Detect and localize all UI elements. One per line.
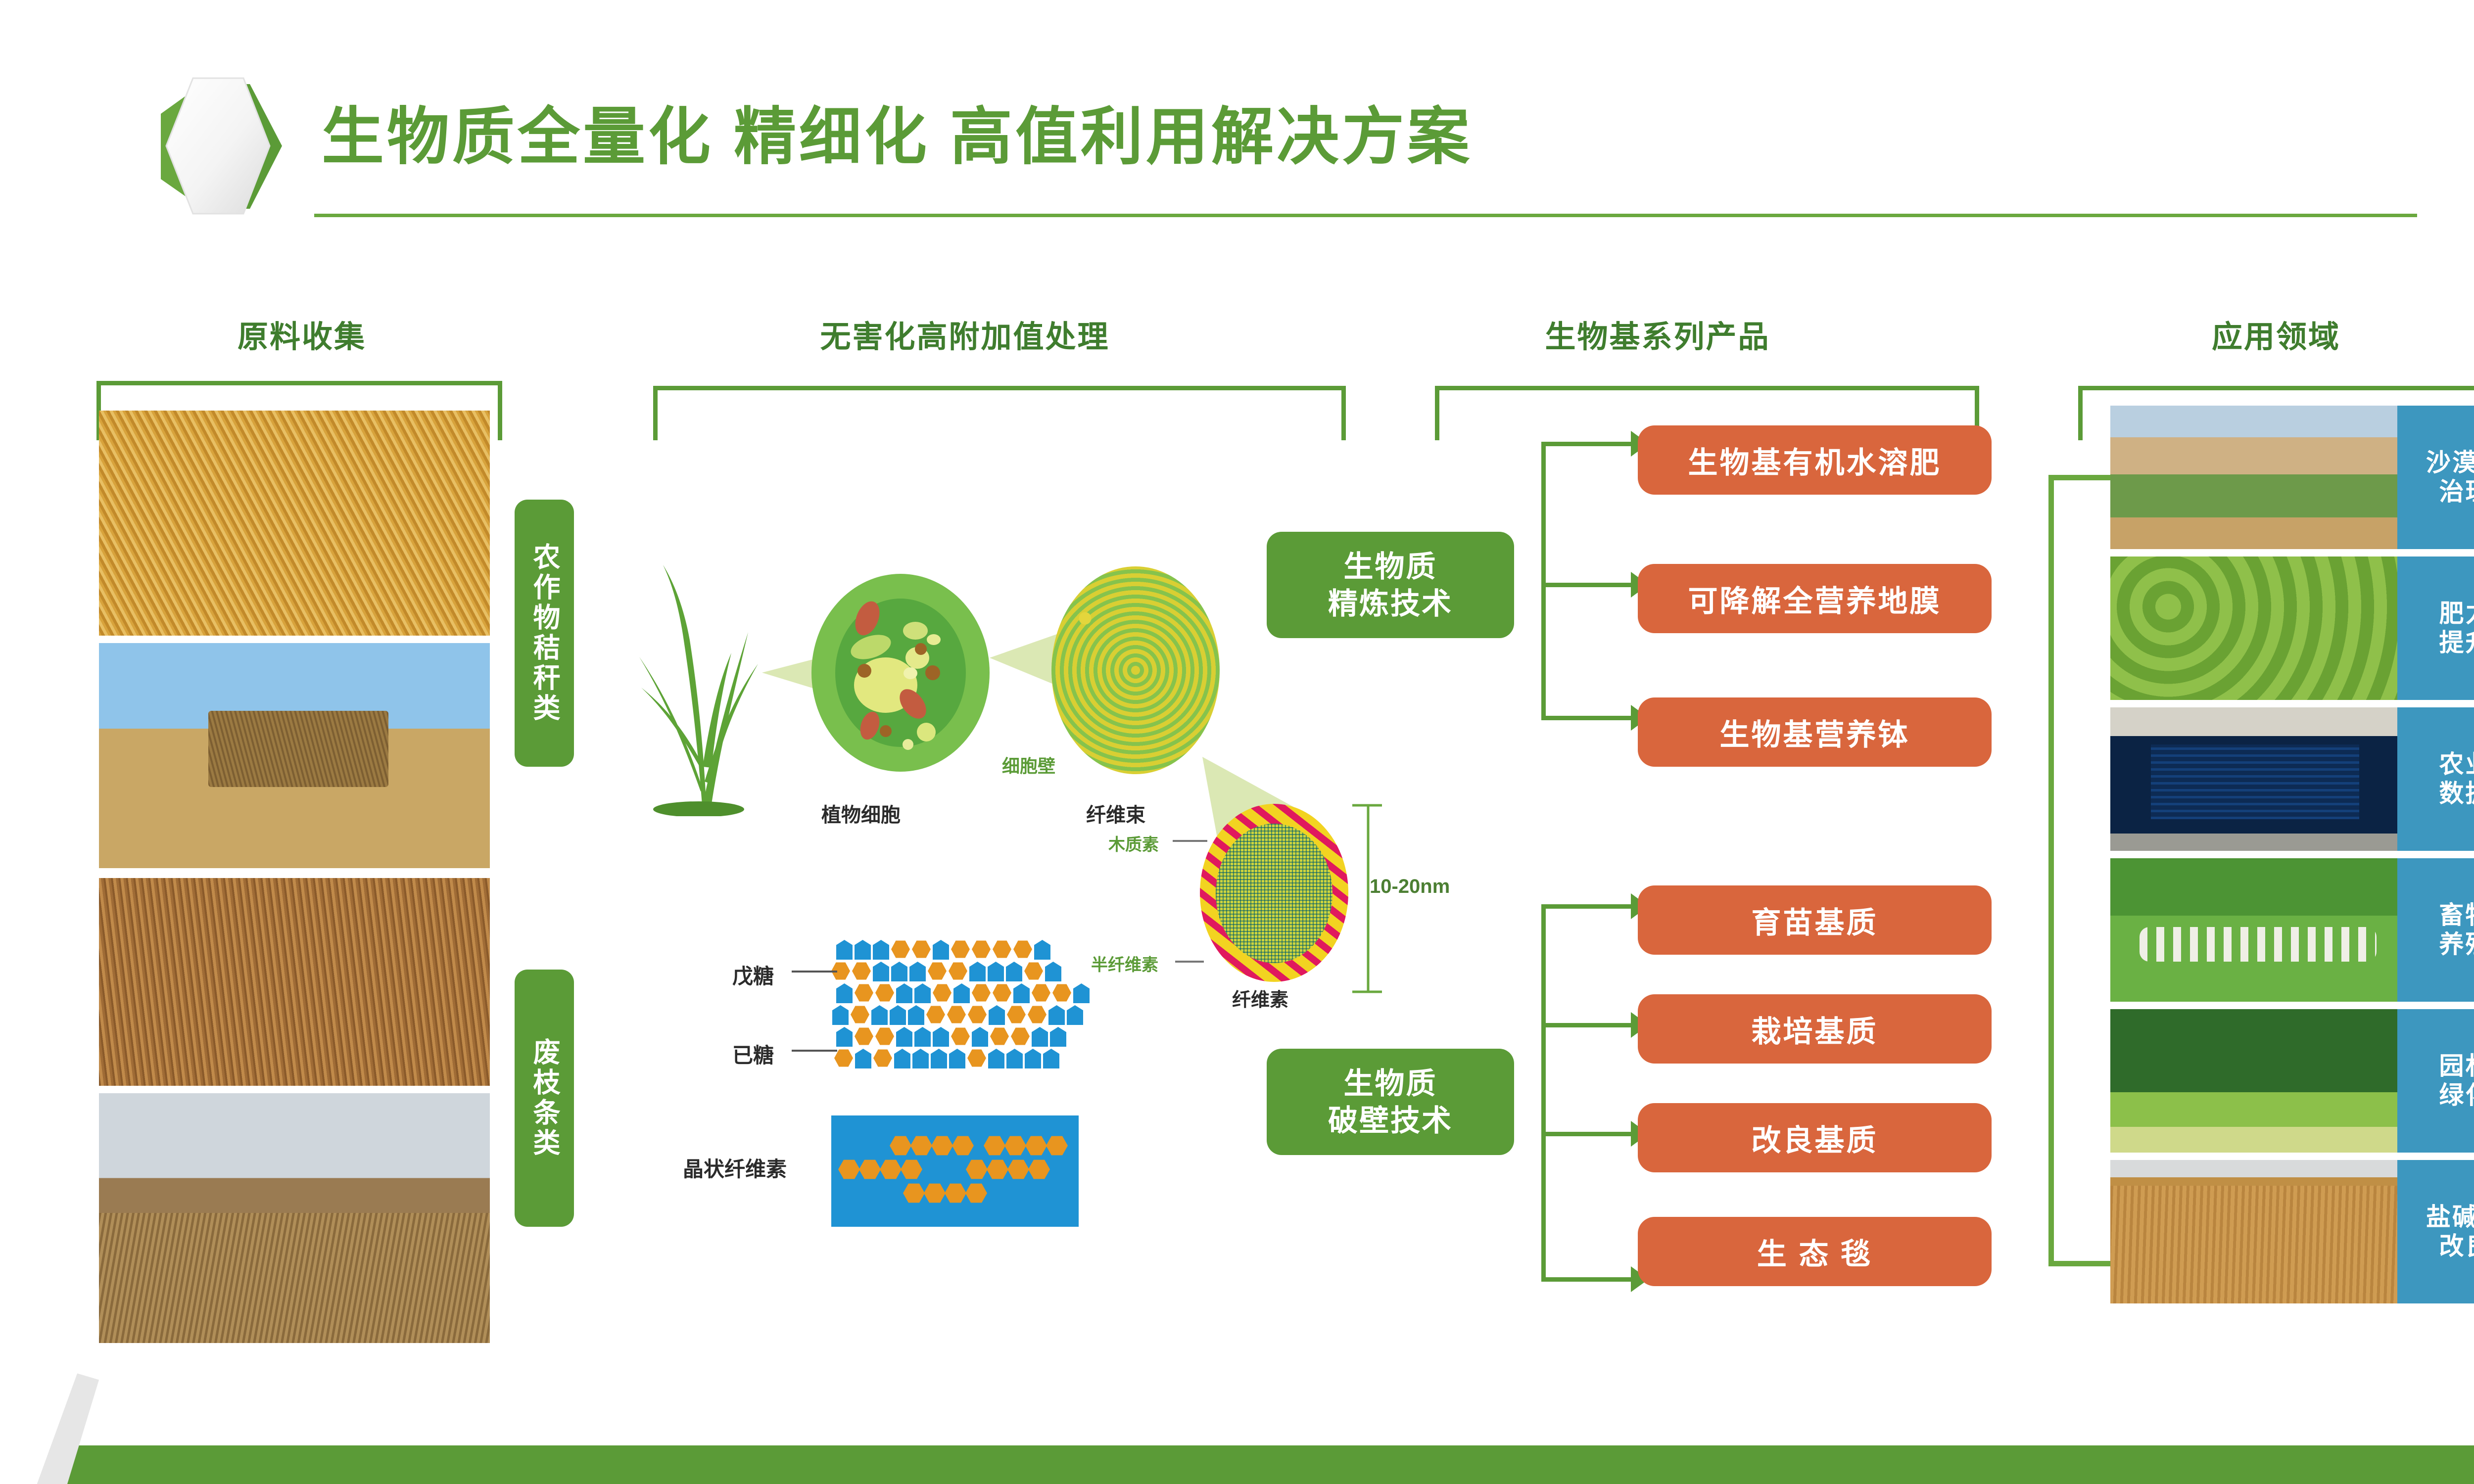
product-box-nutrition-pot[interactable]: 生物基营养钵	[1638, 697, 1992, 767]
app-photo-sheep	[2110, 858, 2400, 1002]
product-box-water-soluble-fertilizer[interactable]: 生物基有机水溶肥	[1638, 425, 1992, 495]
hexose-leader-line	[792, 1050, 837, 1052]
raw-photo-straw-bale	[99, 643, 490, 868]
label-lignin: 木质素	[1108, 831, 1159, 855]
pentose-leader-line	[792, 971, 837, 973]
product-box-improvement-substrate[interactable]: 改良基质	[1638, 1103, 1992, 1172]
hexagon-chevron-icon	[134, 74, 297, 218]
app-photo-saline	[2110, 1160, 2400, 1303]
section-bracket-process	[653, 386, 1346, 440]
app-tag-desert[interactable]: 沙漠化 治理	[2397, 406, 2474, 549]
cellulose-nanofiber-illustration	[1200, 804, 1348, 982]
section-title-apps: 应用领域	[2118, 312, 2434, 356]
tech-box-refining[interactable]: 生物质 精炼技术	[1267, 532, 1514, 638]
tech-line-2: 精炼技术	[1328, 585, 1453, 622]
label-hexose: 已糖	[732, 1039, 774, 1069]
label-crystal-cellulose: 晶状纤维素	[683, 1153, 787, 1183]
section-title-collect: 原料收集	[148, 312, 455, 356]
size-dimension-line	[1348, 801, 1393, 999]
product-box-cultivation-substrate[interactable]: 栽培基质	[1638, 994, 1992, 1064]
tech-line-1: 生物质	[1344, 548, 1437, 585]
section-title-products: 生物基系列产品	[1435, 312, 1880, 356]
app-tag-agri-data-line1: 农业	[2439, 750, 2474, 778]
title-underline	[314, 214, 2417, 217]
app-tag-saline-land[interactable]: 盐碱地 改良	[2397, 1160, 2474, 1303]
cellulose-core	[1216, 824, 1332, 963]
app-tag-agri-data-line2: 数据	[2439, 780, 2474, 807]
label-pentose: 戊糖	[732, 960, 774, 990]
app-photo-cabbage	[2110, 556, 2400, 700]
slide-canvas: 生物质全量化 精细化 高值利用解决方案 原料收集 无害化高附加值处理 生物基系列…	[0, 0, 2474, 1484]
material-group-label-crop-straw: 农作物秸秆类	[515, 500, 574, 767]
app-tag-livestock-line1: 畜牧	[2439, 901, 2474, 929]
label-cellulose: 纤维素	[1232, 984, 1288, 1012]
app-tag-livestock[interactable]: 畜牧 养殖	[2397, 858, 2474, 1002]
material-group-label-waste-branch: 废枝条类	[515, 970, 574, 1227]
app-tag-agri-data[interactable]: 农业 数据	[2397, 707, 2474, 851]
plant-cell-illustration	[811, 574, 990, 772]
crystalline-cellulose-illustration	[831, 1115, 1079, 1227]
fiber-bundle-illustration	[1051, 566, 1220, 774]
applications-bracket	[2048, 475, 2113, 1266]
tech-box-wall-breaking[interactable]: 生物质 破壁技术	[1267, 1049, 1514, 1155]
product-box-seedling-substrate[interactable]: 育苗基质	[1638, 885, 1992, 955]
grass-plant-icon	[628, 534, 777, 816]
app-tag-fertility-line2: 提升	[2439, 629, 2474, 656]
label-cell-wall: 细胞壁	[1002, 752, 1055, 778]
app-photo-desert	[2110, 406, 2400, 549]
product-box-biodegradable-mulch-film[interactable]: 可降解全营养地膜	[1638, 564, 1992, 633]
sugar-chain-illustration	[836, 940, 1128, 1088]
page-title: 生物质全量化 精细化 高值利用解决方案	[322, 87, 1473, 177]
raw-photo-corn-stalk	[99, 411, 490, 636]
product-box-eco-blanket[interactable]: 生 态 毯	[1638, 1217, 1992, 1286]
app-tag-landscaping-line2: 绿化	[2439, 1081, 2474, 1109]
app-tag-landscaping-line1: 园林	[2439, 1052, 2474, 1080]
section-title-process: 无害化高附加值处理	[693, 312, 1237, 356]
lignin-leader-line	[1173, 840, 1207, 842]
app-tag-fertility[interactable]: 肥力 提升	[2397, 556, 2474, 700]
app-tag-fertility-line1: 肥力	[2439, 600, 2474, 627]
footer-bar	[0, 1445, 2474, 1484]
app-tag-desert-line1: 沙漠化	[2426, 449, 2474, 476]
raw-photo-orchard-pruning	[99, 1093, 490, 1343]
app-tag-saline-land-line1: 盐碱地	[2426, 1203, 2474, 1231]
app-photo-data-center	[2110, 707, 2400, 851]
app-tag-livestock-line2: 养殖	[2439, 930, 2474, 958]
app-tag-desert-line2: 治理	[2439, 478, 2474, 506]
hemicellulose-leader-line	[1175, 961, 1204, 963]
app-photo-park	[2110, 1009, 2400, 1153]
label-plant-cell: 植物细胞	[821, 799, 901, 828]
app-tag-saline-land-line2: 改良	[2439, 1232, 2474, 1260]
tech2-line-2: 破壁技术	[1328, 1102, 1453, 1139]
label-fiber-bundle: 纤维束	[1086, 799, 1145, 828]
raw-photo-dry-branches	[99, 878, 490, 1086]
tech2-line-1: 生物质	[1344, 1065, 1437, 1102]
app-tag-landscaping[interactable]: 园林 绿化	[2397, 1009, 2474, 1153]
